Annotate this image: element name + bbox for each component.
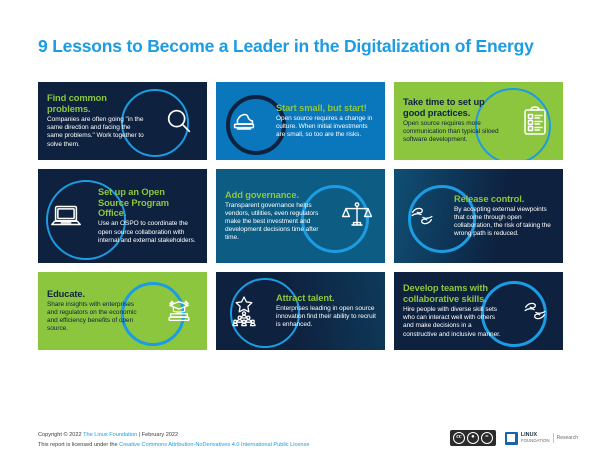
cc-by-icon: ● xyxy=(467,432,479,444)
lf-research-label: Research xyxy=(557,435,578,441)
infographic-page: 9 Lessons to Become a Leader in the Digi… xyxy=(0,0,600,464)
lesson-card-1-body: Companies are often going "in the same d… xyxy=(47,116,145,148)
license-link[interactable]: Creative Commons Attribution-NoDerivativ… xyxy=(119,442,309,448)
lesson-card-6-heading: Release control. xyxy=(454,194,554,204)
cc-nd-icon: = xyxy=(481,432,493,444)
scales-balance-icon xyxy=(329,200,385,232)
lesson-card-1-heading: Find common problems. xyxy=(47,93,145,114)
lesson-card-6-body: By accepting external viewpoints that co… xyxy=(454,206,554,238)
linux-foundation-logo: LINUX FOUNDATION Research xyxy=(505,432,578,445)
lesson-card-5-text: Add governance. Transparent governance h… xyxy=(216,184,329,249)
lesson-card-9-body: Hire people with diverse skill sets who … xyxy=(403,306,501,338)
lesson-card-3-body: Open source requires more communication … xyxy=(403,120,501,144)
lesson-card-4-text: Set up an Open Source Program Office. Us… xyxy=(94,181,207,251)
lesson-card-3[interactable]: Take time to set up good practices. Open… xyxy=(394,82,563,160)
lesson-card-5-heading: Add governance. xyxy=(225,190,323,200)
graduation-books-icon xyxy=(151,296,207,326)
creative-commons-badge[interactable]: cc ● = xyxy=(450,430,496,446)
lesson-card-3-text: Take time to set up good practices. Open… xyxy=(394,91,507,150)
lesson-card-6[interactable]: Release control. By accepting external v… xyxy=(394,169,563,263)
license-text: This report is licensed under the xyxy=(38,442,119,448)
lesson-card-2-body: Open source requires a change in culture… xyxy=(276,115,376,139)
lesson-card-7-body: Share insights with enterprises and regu… xyxy=(47,301,145,333)
lessons-grid: Find common problems. Companies are ofte… xyxy=(38,82,563,350)
lesson-card-8[interactable]: Attract talent. Enterprises leading in o… xyxy=(216,272,385,350)
lesson-card-8-text: Attract talent. Enterprises leading in o… xyxy=(272,287,385,336)
magnifier-icon xyxy=(151,106,207,136)
linux-foundation-mark xyxy=(505,432,518,445)
logo-divider xyxy=(553,433,554,443)
lesson-card-3-heading: Take time to set up good practices. xyxy=(403,97,501,118)
lesson-card-1[interactable]: Find common problems. Companies are ofte… xyxy=(38,82,207,160)
lesson-card-7[interactable]: Educate. Share insights with enterprises… xyxy=(38,272,207,350)
cc-icon: cc xyxy=(453,432,465,444)
lesson-card-4-body: Use an OSPO to coordinate the open sourc… xyxy=(98,220,198,244)
footer-badges: cc ● = LINUX FOUNDATION Research xyxy=(450,430,578,446)
linux-foundation-link[interactable]: The Linux Foundation xyxy=(83,432,137,438)
clipboard-checklist-icon xyxy=(507,105,563,137)
copyright-text: Copyright © 2022 xyxy=(38,432,83,438)
lesson-card-7-heading: Educate. xyxy=(47,289,145,299)
lesson-card-6-text: Release control. By accepting external v… xyxy=(450,188,563,245)
lesson-card-8-body: Enterprises leading in open source innov… xyxy=(276,305,376,329)
lesson-card-8-heading: Attract talent. xyxy=(276,293,376,303)
interlocking-hands-icon xyxy=(507,296,563,326)
page-title: 9 Lessons to Become a Leader in the Digi… xyxy=(38,36,578,57)
lesson-card-5-body: Transparent governance helps vendors, ut… xyxy=(225,202,323,242)
star-people-pyramid-icon xyxy=(216,295,272,327)
copyright-date: | February 2022 xyxy=(137,432,178,438)
linux-foundation-wordmark: LINUX FOUNDATION xyxy=(521,433,550,444)
first-step-shoe-icon xyxy=(216,106,272,136)
lesson-card-9-heading: Develop teams with collaborative skills. xyxy=(403,283,501,304)
lesson-card-5[interactable]: Add governance. Transparent governance h… xyxy=(216,169,385,263)
lesson-card-4-heading: Set up an Open Source Program Office. xyxy=(98,187,198,218)
lesson-card-1-text: Find common problems. Companies are ofte… xyxy=(38,87,151,154)
lf-sub: FOUNDATION xyxy=(521,438,550,443)
lesson-card-4[interactable]: Set up an Open Source Program Office. Us… xyxy=(38,169,207,263)
lesson-card-9[interactable]: Develop teams with collaborative skills.… xyxy=(394,272,563,350)
open-hands-icon xyxy=(394,201,450,231)
lesson-card-7-text: Educate. Share insights with enterprises… xyxy=(38,283,151,340)
lesson-card-2-heading: Start small, but start! xyxy=(276,103,376,113)
laptop-icon xyxy=(38,199,94,233)
lesson-card-2-text: Start small, but start! Open source requ… xyxy=(272,97,385,146)
lesson-card-9-text: Develop teams with collaborative skills.… xyxy=(394,277,507,344)
lesson-card-2[interactable]: Start small, but start! Open source requ… xyxy=(216,82,385,160)
